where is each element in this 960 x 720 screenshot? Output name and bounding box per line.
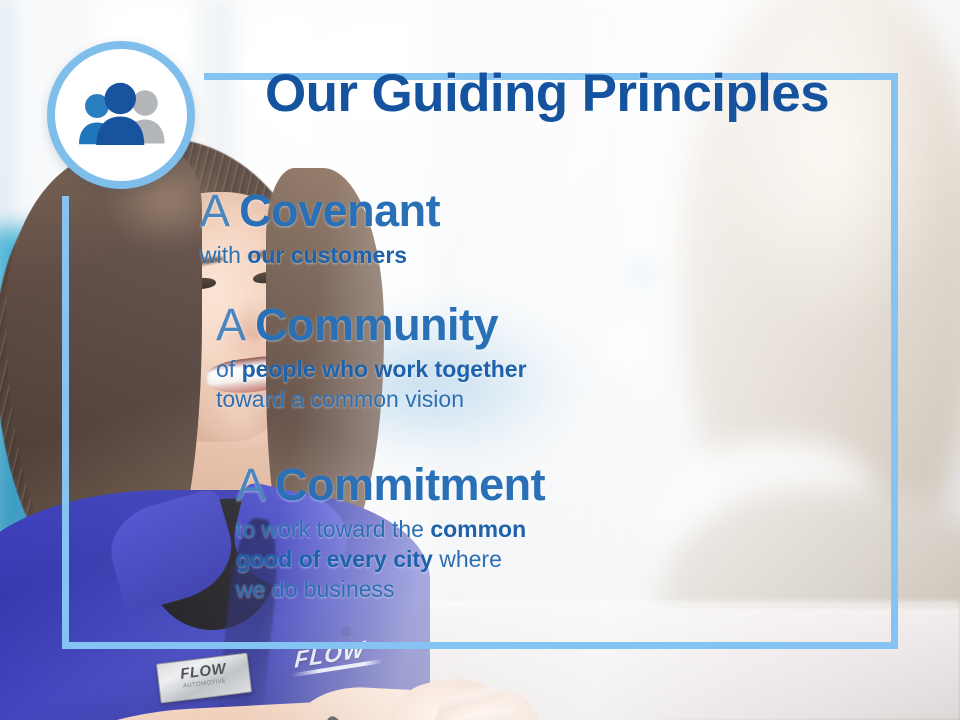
page-title: Our Guiding Principles [200, 66, 894, 122]
principle-block-covenant: A Covenant with our customers [200, 186, 894, 270]
detail-text: of [216, 356, 242, 382]
principle-detail-line: of people who work together [216, 354, 910, 384]
principle-detail: with our customers [200, 240, 894, 270]
principle-keyword: Community [255, 299, 498, 350]
principle-detail-line: with our customers [200, 240, 894, 270]
principle-keyword: Covenant [239, 185, 440, 236]
detail-emphasis: common [430, 516, 526, 542]
icon-person-center-body [96, 117, 144, 146]
detail-emphasis: good of every city [236, 546, 433, 572]
principle-article: A [236, 459, 263, 510]
guiding-principles-graphic: FLOW FLOW AUTOMOTIVE [0, 0, 960, 720]
principle-article: A [200, 185, 227, 236]
principle-heading: A Community [216, 300, 910, 350]
principle-heading: A Covenant [200, 186, 894, 236]
detail-text: we do business [236, 576, 395, 602]
principle-detail: of people who work togethertoward a comm… [216, 354, 910, 415]
principle-detail-line: we do business [236, 574, 930, 604]
principle-detail-line: good of every city where [236, 544, 930, 574]
detail-emphasis: our customers [247, 242, 407, 268]
polo-button [342, 626, 351, 635]
principle-article: A [216, 299, 243, 350]
principle-detail-line: toward a common vision [216, 384, 910, 414]
detail-text: with [200, 242, 247, 268]
people-group-icon [73, 80, 169, 150]
principle-block-commitment: A Commitment to work toward the commongo… [236, 460, 930, 605]
icon-person-center-head [105, 83, 137, 115]
detail-text: where [433, 546, 502, 572]
detail-text: toward a common vision [216, 386, 464, 412]
people-badge-circle [47, 41, 195, 189]
icon-person-right-head [132, 90, 158, 116]
principle-detail: to work toward the commongood of every c… [236, 514, 930, 605]
principle-block-community: A Community of people who work togethert… [216, 300, 910, 414]
principle-detail-line: to work toward the common [236, 514, 930, 544]
principle-keyword: Commitment [275, 459, 545, 510]
detail-emphasis: people who work together [242, 356, 527, 382]
principle-heading: A Commitment [236, 460, 930, 510]
page-title-wrap: Our Guiding Principles [200, 66, 894, 122]
detail-text: to work toward the [236, 516, 430, 542]
